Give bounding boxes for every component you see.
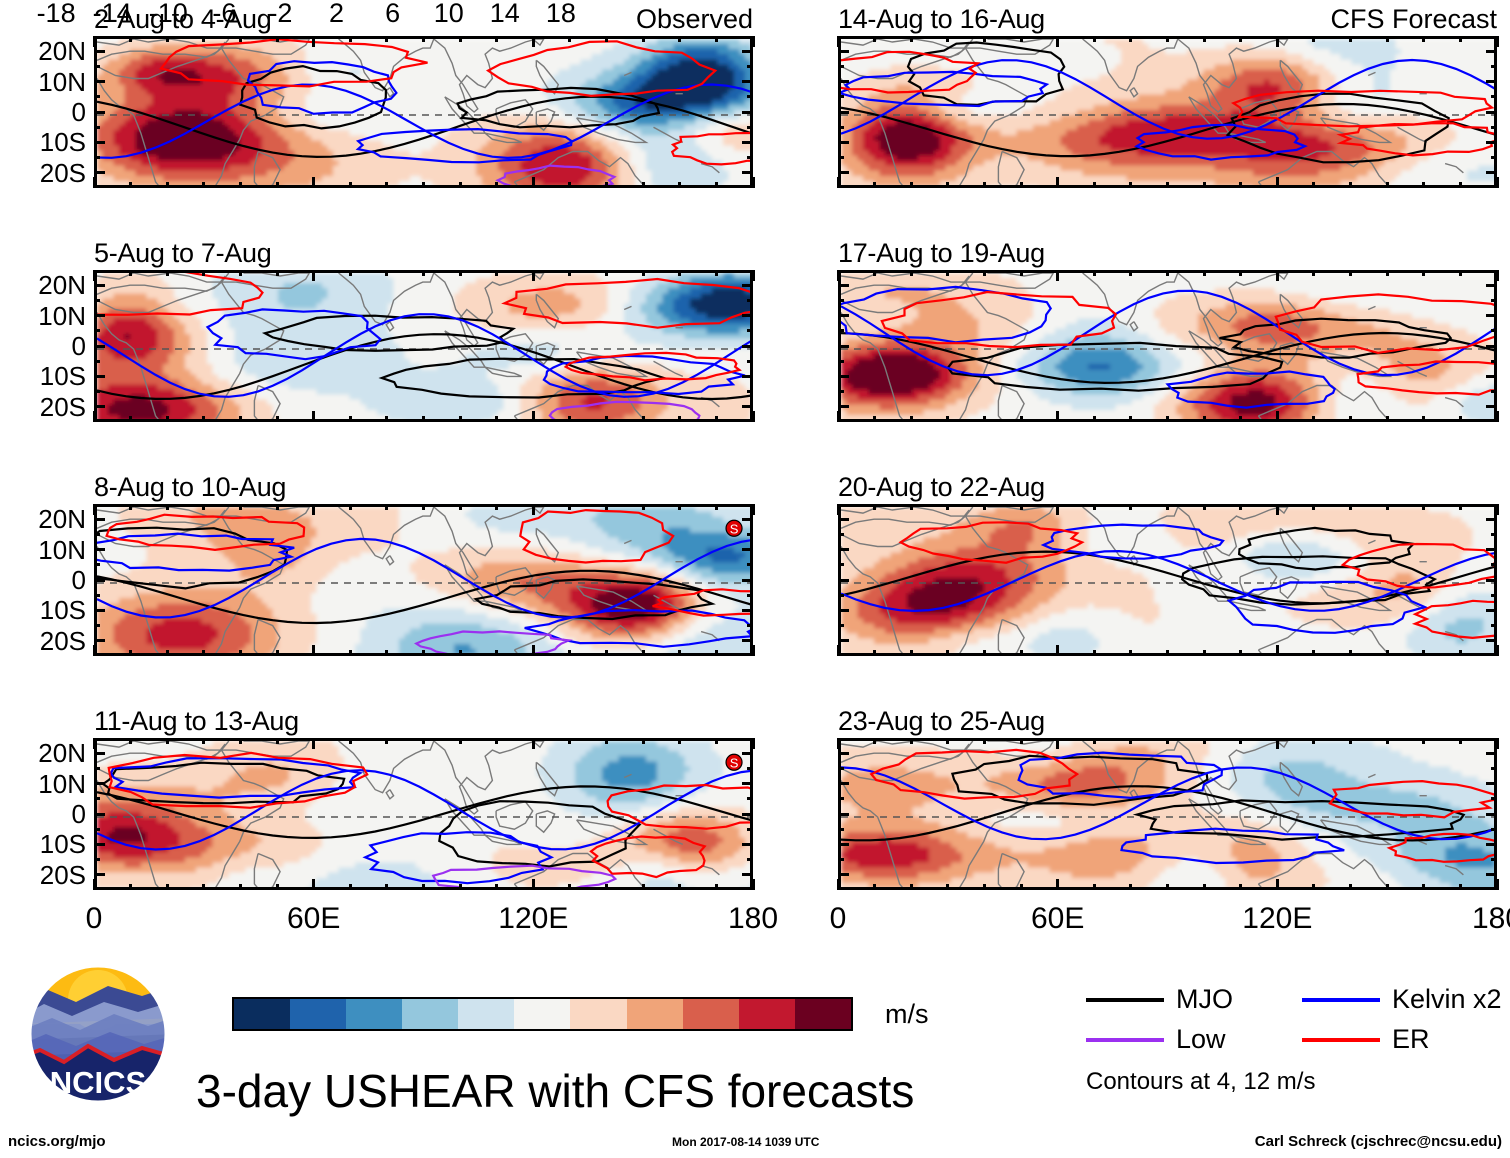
y-tick-label: 20N xyxy=(38,38,86,64)
y-tick-label: 10S xyxy=(40,363,86,389)
y-tick-label: 10N xyxy=(38,537,86,563)
y-axis-labels: 20N10N010S20S xyxy=(10,36,90,188)
x-tick-label: 60E xyxy=(287,904,340,934)
panel-title: 5-Aug to 7-Aug xyxy=(94,240,271,267)
y-tick-label: 0 xyxy=(72,567,86,593)
main-title: 3-day USHEAR with CFS forecasts xyxy=(196,1068,914,1114)
y-tick-label: 20N xyxy=(38,740,86,766)
y-tick-label: 10S xyxy=(40,597,86,623)
x-tick-label: 60E xyxy=(1031,904,1084,934)
map-plot-area xyxy=(838,36,1497,188)
y-tick-label: 10N xyxy=(38,771,86,797)
y-tick-label: 10N xyxy=(38,303,86,329)
colorbar-tick-label: 10 xyxy=(434,0,464,27)
legend-line-swatch xyxy=(1086,1038,1164,1042)
footer-timestamp: Mon 2017-08-14 1039 UTC xyxy=(672,1136,819,1148)
x-tick-label: 0 xyxy=(830,904,847,934)
panel-title: 11-Aug to 13-Aug xyxy=(94,708,299,735)
legend-note: Contours at 4, 12 m/s xyxy=(1086,1070,1315,1094)
legend-item-low: Low xyxy=(1086,1026,1226,1053)
legend-line-swatch xyxy=(1086,998,1164,1002)
legend-label: MJO xyxy=(1176,986,1233,1013)
filled-contours xyxy=(97,273,753,422)
header-observed: Observed xyxy=(636,6,753,33)
colorbar-segment xyxy=(402,999,458,1029)
panel-title: 17-Aug to 19-Aug xyxy=(838,240,1045,267)
tropical-cyclone-icon: S xyxy=(726,754,742,770)
x-tick-label: 180 xyxy=(728,904,778,934)
colorbar xyxy=(232,997,853,1031)
colorbar-tick-label: 6 xyxy=(385,0,400,27)
legend-label: Kelvin x2 xyxy=(1392,986,1502,1013)
shear-field xyxy=(841,273,1497,422)
map-plot-area xyxy=(838,504,1497,656)
x-axis-labels-left: 060E120E180 xyxy=(94,904,753,940)
map-plot-area: S xyxy=(94,738,753,890)
y-axis-labels: 20N10N010S20S xyxy=(10,270,90,422)
map-plot-area xyxy=(838,270,1497,422)
colorbar-tick-label: 14 xyxy=(490,0,520,27)
y-axis-labels: 20N10N010S20S xyxy=(10,738,90,890)
colorbar-segment xyxy=(795,999,851,1029)
x-tick-label: 120E xyxy=(1242,904,1312,934)
colorbar-segment xyxy=(458,999,514,1029)
colorbar-tick-label: -14 xyxy=(93,0,132,27)
legend-label: Low xyxy=(1176,1026,1226,1053)
shear-field: S xyxy=(97,741,753,890)
shear-field xyxy=(841,741,1497,890)
tropical-cyclone-icon: S xyxy=(726,520,742,536)
y-tick-label: 20S xyxy=(40,160,86,186)
y-tick-label: 10S xyxy=(40,831,86,857)
colorbar-tick-label: -6 xyxy=(212,0,236,27)
legend-item-mjo: MJO xyxy=(1086,986,1233,1013)
map-plot-area xyxy=(94,36,753,188)
header-cfs-forecast: CFS Forecast xyxy=(1330,6,1497,33)
legend-line-swatch xyxy=(1302,998,1380,1002)
colorbar-segment xyxy=(627,999,683,1029)
x-axis-labels-right: 060E120E180 xyxy=(838,904,1497,940)
shear-field xyxy=(97,273,753,422)
y-tick-label: 20N xyxy=(38,506,86,532)
ncics-logo: NCICS xyxy=(18,962,178,1117)
y-tick-label: 0 xyxy=(72,801,86,827)
map-plot-area: S xyxy=(94,504,753,656)
panel-title: 20-Aug to 22-Aug xyxy=(838,474,1045,501)
y-tick-label: 20S xyxy=(40,394,86,420)
footer-site-link[interactable]: ncics.org/mjo xyxy=(8,1134,106,1149)
panel-title: 8-Aug to 10-Aug xyxy=(94,474,286,501)
y-tick-label: 20N xyxy=(38,272,86,298)
footer-author: Carl Schreck (cjschrec@ncsu.edu) xyxy=(1255,1134,1502,1149)
colorbar-units-label: m/s xyxy=(885,1001,929,1028)
colorbar-tick-label: 18 xyxy=(546,0,576,27)
panel-title: 14-Aug to 16-Aug xyxy=(838,6,1045,33)
legend-label: ER xyxy=(1392,1026,1430,1053)
legend-item-kelvin-x2: Kelvin x2 xyxy=(1302,986,1502,1013)
ncics-logo-svg: NCICS xyxy=(18,962,178,1112)
colorbar-tick-label: -18 xyxy=(37,0,76,27)
ncics-logo-text: NCICS xyxy=(50,1065,146,1100)
colorbar-segment xyxy=(739,999,795,1029)
legend: MJOKelvin x2LowER xyxy=(1086,986,1506,1066)
legend-item-er: ER xyxy=(1302,1026,1430,1053)
colorbar-tick-label: 2 xyxy=(329,0,344,27)
map-plot-area xyxy=(94,270,753,422)
colorbar-segment xyxy=(290,999,346,1029)
y-tick-label: 10S xyxy=(40,129,86,155)
colorbar-segment xyxy=(683,999,739,1029)
panel-title: 23-Aug to 25-Aug xyxy=(838,708,1045,735)
colorbar-segment xyxy=(346,999,402,1029)
shear-field xyxy=(97,39,753,188)
shear-field xyxy=(841,39,1497,188)
colorbar-segment xyxy=(234,999,290,1029)
x-tick-label: 120E xyxy=(498,904,568,934)
y-tick-label: 20S xyxy=(40,628,86,654)
x-tick-label: 0 xyxy=(86,904,103,934)
legend-line-swatch xyxy=(1302,1038,1380,1042)
y-tick-label: 0 xyxy=(72,333,86,359)
shear-field xyxy=(841,507,1497,656)
colorbar-tick-label: -10 xyxy=(149,0,188,27)
colorbar-tick-label: -2 xyxy=(268,0,292,27)
map-plot-area xyxy=(838,738,1497,890)
y-tick-label: 20S xyxy=(40,862,86,888)
colorbar-segment xyxy=(570,999,626,1029)
y-tick-label: 0 xyxy=(72,99,86,125)
colorbar-segment xyxy=(514,999,570,1029)
y-tick-label: 10N xyxy=(38,69,86,95)
shear-field: S xyxy=(97,507,753,656)
x-tick-label: 180 xyxy=(1472,904,1510,934)
y-axis-labels: 20N10N010S20S xyxy=(10,504,90,656)
